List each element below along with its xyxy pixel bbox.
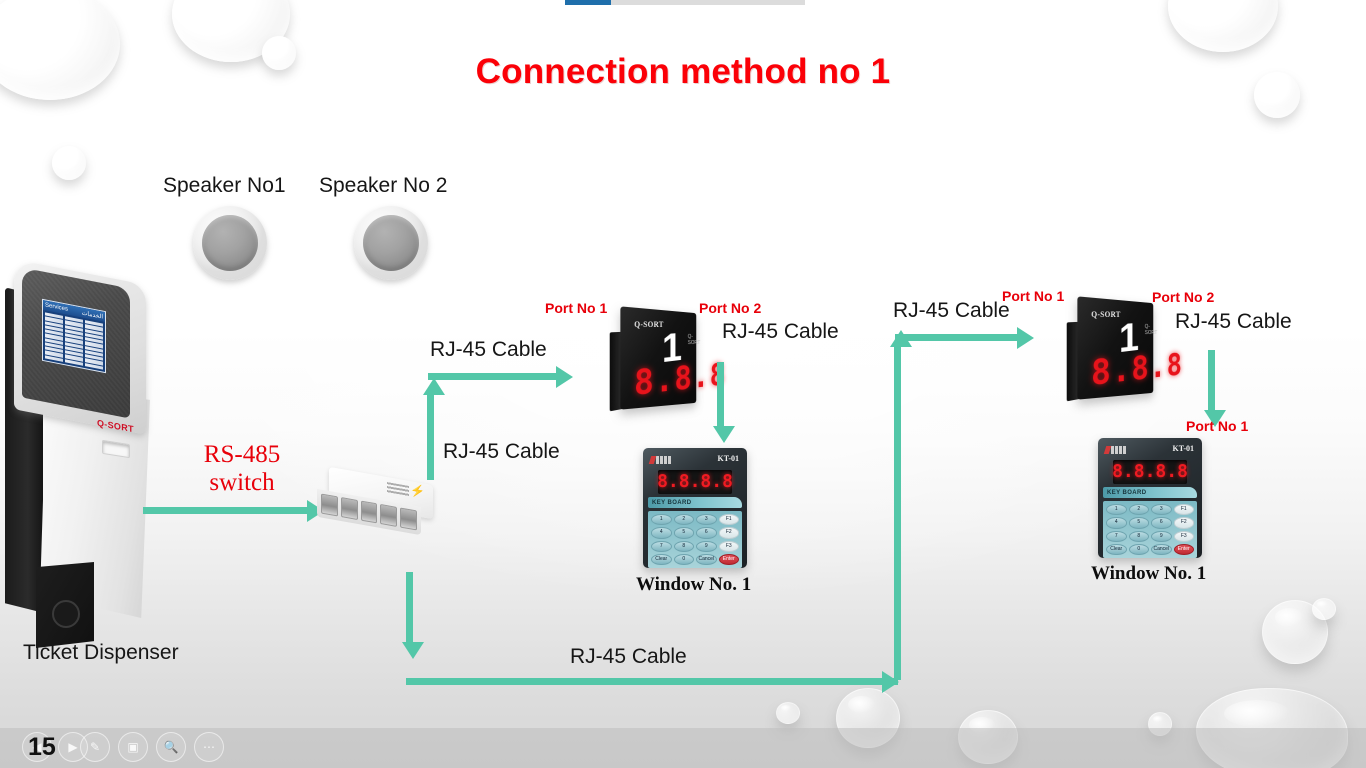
slide-canvas: Connection method no 1 Speaker No1 Speak… [0, 0, 1366, 768]
magnifier-icon: 🔍 [164, 740, 179, 754]
switch-port[interactable] [361, 501, 378, 524]
keypad-key[interactable]: 1 [651, 514, 672, 525]
ticket-dispenser-label: Ticket Dispenser [23, 641, 179, 665]
switch-port[interactable] [321, 494, 338, 517]
keypad-key[interactable]: 9 [1151, 531, 1172, 542]
cable-label-board1-to-keypad1: RJ-45 Cable [722, 320, 839, 344]
keypad-keyboard-bar: KEY BOARD [648, 497, 742, 508]
keypad-keyboard-label: KEY BOARD [652, 500, 692, 506]
cable-label-to-board2: RJ-45 Cable [893, 299, 1010, 323]
switch-port[interactable] [341, 497, 358, 520]
keypad-key[interactable]: F1 [1174, 504, 1195, 515]
keypad-model-label: KT-01 [1173, 444, 1195, 453]
keypad-header: KT-01 [648, 453, 742, 469]
arrow-head-down-icon [713, 426, 735, 443]
keypad-terminal-2: KT-01 8.8.8.8 KEY BOARD 1 2 3 F1 4 5 6 F… [1098, 438, 1202, 558]
keypad-model-label: KT-01 [718, 454, 740, 463]
cable-line-switch-down [406, 572, 413, 644]
keypad-brand-icon [1105, 445, 1135, 455]
port-label-board2-in: Port No 1 [1002, 288, 1064, 304]
keypad-key[interactable]: 5 [674, 527, 695, 538]
kiosk-service-column [45, 312, 63, 362]
keypad-key[interactable]: 6 [696, 527, 717, 538]
keypad-led-display: 8.8.8.8 [1113, 460, 1187, 484]
kiosk-service-list [45, 312, 103, 369]
arrow-head-right-icon [556, 366, 573, 388]
arrow-kiosk-to-switch [143, 507, 309, 514]
switch-port[interactable] [400, 507, 417, 530]
cable-line-board1-to-keypad1 [717, 362, 724, 428]
keypad-key[interactable]: 2 [674, 514, 695, 525]
next-arrow-icon: ▶ [68, 740, 77, 754]
cable-line-right-up [894, 344, 901, 680]
decorative-droplet [776, 702, 800, 724]
keypad-key[interactable]: 8 [1129, 531, 1150, 542]
cable-label-bottom-run: RJ-45 Cable [570, 645, 687, 669]
port-label-keypad2-in: Port No 1 [1186, 418, 1248, 434]
switch-port[interactable] [380, 504, 397, 527]
keypad-key-clear[interactable]: Clear [651, 554, 672, 565]
decorative-bubble [52, 146, 86, 180]
kiosk-base-lock-icon [52, 600, 80, 628]
all-slides-button[interactable]: ▣ [118, 732, 148, 762]
speaker-cone [202, 215, 258, 271]
keypad-led-display: 8.8.8.8 [658, 470, 732, 494]
keypad-keyboard-bar: KEY BOARD [1103, 487, 1197, 498]
speaker-cone [363, 215, 419, 271]
cable-label-switch-vertical: RJ-45 Cable [443, 440, 560, 464]
arrow-head-up-icon [423, 378, 445, 395]
keypad-key[interactable]: 8 [674, 541, 695, 552]
board-brand-mark: Q-SORT [1145, 324, 1161, 336]
switch-power-bolt-icon: ⚡ [410, 483, 425, 500]
keypad-key[interactable]: 0 [674, 554, 695, 565]
keypad-key[interactable]: 9 [696, 541, 717, 552]
speaker-2 [354, 206, 428, 280]
board-logo: Q-SORT [1091, 310, 1121, 319]
keypad-key-grid: 1 2 3 F1 4 5 6 F2 7 8 9 F3 Clear 0 Cance… [1103, 501, 1197, 558]
kiosk-screen-header-right: الخدمات [82, 309, 103, 320]
keypad-led-value: 8.8.8.8 [657, 473, 733, 491]
keypad-key[interactable]: 4 [1106, 517, 1127, 528]
keypad-key[interactable]: 7 [1106, 531, 1127, 542]
keypad-key-cancel[interactable]: Cancel [696, 554, 717, 565]
keypad-key-grid: 1 2 3 F1 4 5 6 F2 7 8 9 F3 Clear 0 Cance… [648, 511, 742, 568]
cable-line-to-board2 [895, 334, 1019, 341]
pen-icon: ✎ [90, 740, 100, 754]
kiosk-service-column [65, 316, 83, 366]
keypad-header: KT-01 [1103, 443, 1197, 459]
arrow-head-down-icon [402, 642, 424, 659]
presentation-progress-fill [565, 0, 611, 5]
keypad-2-caption: Window No. 1 [1091, 563, 1206, 585]
keypad-key[interactable]: 3 [1151, 504, 1172, 515]
slides-grid-icon: ▣ [127, 740, 138, 754]
keypad-key[interactable]: 3 [696, 514, 717, 525]
kiosk-touchscreen[interactable]: Services الخدمات [42, 299, 106, 373]
port-label-board1-in: Port No 1 [545, 300, 607, 316]
ellipsis-icon: ⋯ [203, 740, 215, 754]
kiosk-service-column [85, 320, 103, 370]
ticket-dispenser-kiosk: Services الخدمات [0, 266, 190, 636]
cable-label-board2-to-keypad2: RJ-45 Cable [1175, 310, 1292, 334]
keypad-key[interactable]: 7 [651, 541, 672, 552]
keypad-keyboard-label: KEY BOARD [1107, 490, 1147, 496]
speaker-2-label: Speaker No 2 [319, 174, 447, 198]
keypad-key[interactable]: F1 [719, 514, 740, 525]
keypad-key[interactable]: 1 [1106, 504, 1127, 515]
presentation-toolbar: ◀ 15 ▶ ✎ ▣ 🔍 ⋯ [0, 728, 1366, 768]
cable-label-to-board1: RJ-45 Cable [430, 338, 547, 362]
keypad-key-clear[interactable]: Clear [1106, 544, 1127, 555]
keypad-key-enter[interactable]: Enter [1174, 544, 1195, 555]
display-board-1: Q-SORT Q-SORT 1 8.8.8 [605, 310, 705, 418]
keypad-key[interactable]: 6 [1151, 517, 1172, 528]
board-logo: Q-SORT [634, 320, 664, 329]
rs485-switch-label-line1: RS-485 [192, 441, 292, 469]
cable-line-to-board1 [428, 373, 558, 380]
rs485-switch-label-line2: switch [192, 469, 292, 497]
keypad-key[interactable]: F2 [719, 527, 740, 538]
keypad-key[interactable]: F2 [1174, 517, 1195, 528]
cable-line-switch-up-left [427, 392, 434, 480]
keypad-key[interactable]: F3 [1174, 531, 1195, 542]
keypad-key[interactable]: 4 [651, 527, 672, 538]
port-label-board1-out: Port No 2 [699, 300, 761, 316]
keypad-1-caption: Window No. 1 [636, 574, 751, 596]
display-board-2: Q-SORT Q-SORT 1 8.8.8 [1062, 300, 1162, 408]
zoom-button[interactable]: 🔍 [156, 732, 186, 762]
keypad-brand-icon [650, 455, 680, 465]
keypad-key[interactable]: 2 [1129, 504, 1150, 515]
slide-title: Connection method no 1 [0, 52, 1366, 92]
cable-line-bottom-run [406, 678, 898, 685]
more-options-button[interactable]: ⋯ [194, 732, 224, 762]
board-brand-mark: Q-SORT [688, 334, 704, 346]
decorative-droplet [1312, 598, 1336, 620]
arrow-head-right-icon [1017, 327, 1034, 349]
keypad-key-enter[interactable]: Enter [719, 554, 740, 565]
keypad-key[interactable]: 0 [1129, 544, 1150, 555]
pen-tool-button[interactable]: ✎ [80, 732, 110, 762]
slide-number: 15 [28, 733, 56, 762]
cable-line-board2-to-keypad2 [1208, 350, 1215, 412]
keypad-key[interactable]: F3 [719, 541, 740, 552]
rs485-switch-label: RS-485 switch [192, 441, 292, 497]
kiosk-screen-header-left: Services [45, 302, 68, 312]
keypad-key-cancel[interactable]: Cancel [1151, 544, 1172, 555]
network-switch: ⚡ [315, 476, 435, 538]
keypad-terminal-1: KT-01 8.8.8.8 KEY BOARD 1 2 3 F1 4 5 6 F… [643, 448, 747, 568]
keypad-led-value: 8.8.8.8 [1112, 463, 1188, 481]
speaker-1 [193, 206, 267, 280]
speaker-1-label: Speaker No1 [163, 174, 286, 198]
keypad-key[interactable]: 5 [1129, 517, 1150, 528]
